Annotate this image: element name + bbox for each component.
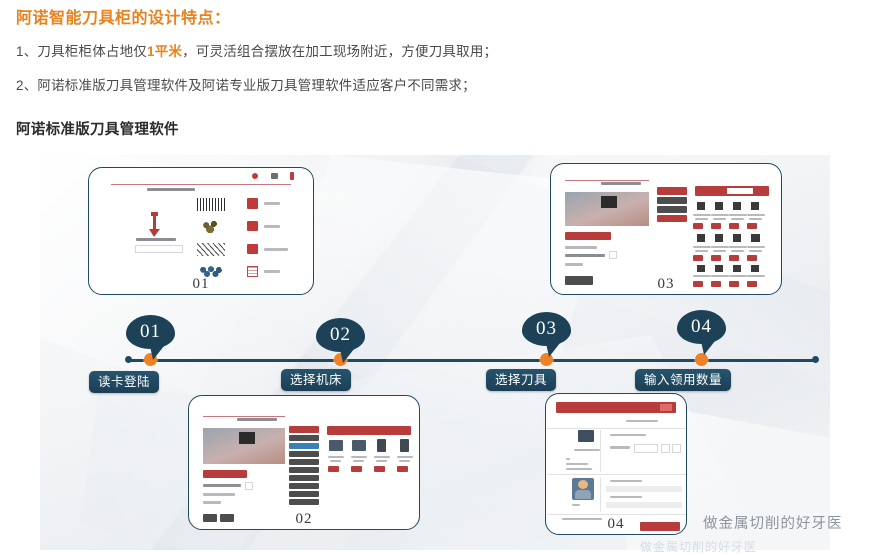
screenshot-caption: 02 <box>189 511 419 528</box>
feature-bullet-2: 2、阿诺标准版刀具管理软件及阿诺专业版刀具管理软件适应客户不同需求； <box>16 74 476 94</box>
screenshot-caption: 04 <box>546 516 686 533</box>
timeline-end-cap <box>812 356 819 363</box>
step-pin-2[interactable]: 02 <box>316 318 365 352</box>
step-label-2[interactable]: 选择机床 <box>281 369 351 391</box>
timeline-axis <box>128 359 815 362</box>
step-pin-3[interactable]: 03 <box>522 312 571 346</box>
screenshot-card-login[interactable]: 01 <box>88 167 314 295</box>
step-label-1[interactable]: 读卡登陆 <box>89 371 159 393</box>
step-pin-1[interactable]: 01 <box>126 315 175 349</box>
section-subtitle: 阿诺标准版刀具管理软件 <box>16 118 179 139</box>
watermark-text: 做金属切削的好牙医 <box>640 538 757 555</box>
step-label-3[interactable]: 选择刀具 <box>486 369 556 391</box>
brand-slogan: 做金属切削的好牙医 <box>703 512 843 533</box>
page-root: 阿诺智能刀具柜的设计特点： 1、刀具柜柜体占地仅1平米，可灵活组合摆放在加工现场… <box>0 0 869 555</box>
bullet-1-suffix: ，可灵活组合摆放在加工现场附近，方便刀具取用； <box>182 44 497 59</box>
timeline-start-cap <box>125 356 132 363</box>
screenshot-caption: 03 <box>551 276 781 293</box>
page-title: 阿诺智能刀具柜的设计特点： <box>16 4 231 28</box>
step-label-4[interactable]: 输入领用数量 <box>635 369 731 391</box>
infographic-panel: 01 <box>40 155 830 550</box>
bullet-1-prefix: 1、刀具柜柜体占地仅 <box>16 44 147 59</box>
screenshot-machine-selection[interactable]: 02 <box>188 395 420 530</box>
feature-bullet-1: 1、刀具柜柜体占地仅1平米，可灵活组合摆放在加工现场附近，方便刀具取用； <box>16 40 497 60</box>
screenshot-tool-selection[interactable]: 03 <box>550 163 782 295</box>
screenshot-caption: 01 <box>89 276 313 293</box>
step-pin-4[interactable]: 04 <box>677 310 726 344</box>
bullet-1-highlight: 1平米 <box>147 44 182 59</box>
screenshot-quantity-input[interactable]: 04 <box>545 393 687 535</box>
